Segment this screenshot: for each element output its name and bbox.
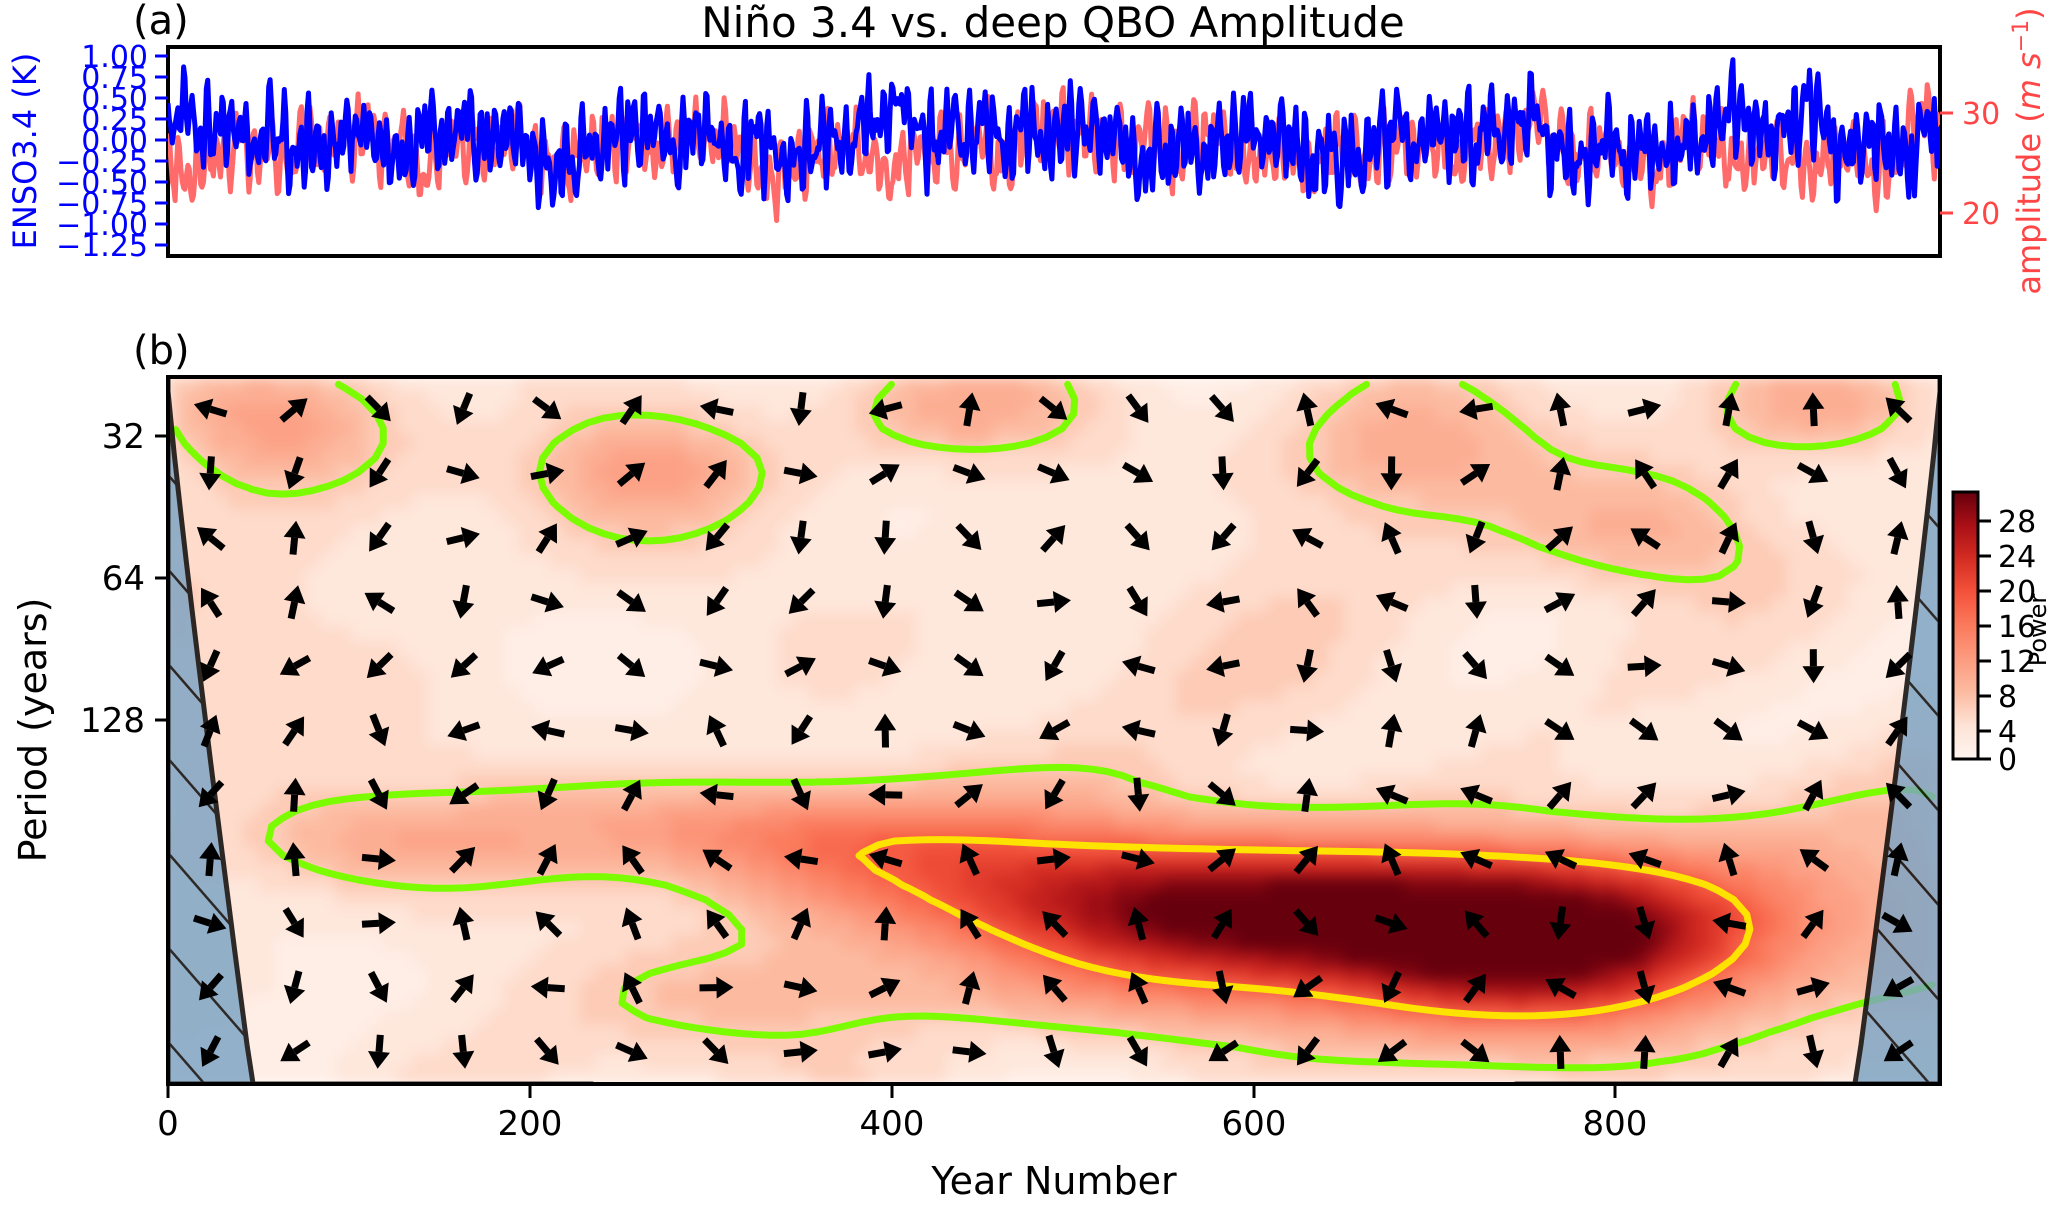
- colorbar-tick-5: 8: [1998, 680, 2017, 715]
- panel-a-y2tick-0: 30: [1962, 97, 2000, 132]
- y2label-prefix: amplitude (: [2010, 110, 2048, 294]
- panel-b-ylabel: Period (years): [11, 598, 55, 863]
- figure-root: Niño 3.4 vs. deep QBO Amplitude (a) 1.00…: [0, 0, 2067, 1219]
- panel-b-xlabel: Year Number: [930, 1159, 1177, 1203]
- panel-b-content: [167, 376, 1940, 1084]
- colorbar-gradient: [1953, 492, 1978, 759]
- panel-b-ytick-2: 128: [80, 701, 145, 741]
- panel-b-xtick-2: 400: [860, 1104, 925, 1144]
- panel-b-yaxis: 32 64 128 Period (years): [11, 417, 168, 862]
- colorbar-tick-1: 24: [1998, 540, 2036, 575]
- panel-a-right-axis: 30 20 amplitude (m s−1): [1940, 7, 2048, 294]
- colorbar-label: Power: [2024, 594, 2052, 667]
- svg-text:amplitude (m s−1): amplitude (m s−1): [2009, 7, 2049, 294]
- panel-a-y2label: amplitude (m s−1): [2009, 7, 2049, 294]
- colorbar-ticks: [1978, 521, 1991, 759]
- y2label-exp: −1: [2009, 20, 2034, 52]
- y2label-suffix: ): [2010, 7, 2048, 19]
- colorbar: 28 24 20 16 12 8 4 0 Power: [1953, 492, 2052, 778]
- panel-b-xtick-1: 200: [498, 1104, 563, 1144]
- panel-b-ytick-0: 32: [102, 417, 145, 457]
- colorbar-tick-0: 28: [1998, 505, 2036, 540]
- panel-b-xtick-0: 0: [157, 1104, 179, 1144]
- panel-a-left-axis: 1.00 0.75 0.50 0.25 0.00 −0.25 −0.50 −0.…: [6, 40, 168, 264]
- panel-a-ytick-9: −1.25: [56, 229, 148, 264]
- panel-b-ytick-1: 64: [102, 559, 145, 599]
- panel-b-xtick-4: 800: [1583, 1104, 1648, 1144]
- panel-b-label: (b): [133, 328, 190, 374]
- figure-canvas: Niño 3.4 vs. deep QBO Amplitude (a) 1.00…: [0, 0, 2067, 1219]
- panel-a-y2tick-1: 20: [1962, 197, 2000, 232]
- panel-b: (b) 32 64 128 Period (years): [11, 328, 1941, 1203]
- colorbar-tick-7: 0: [1998, 743, 2017, 778]
- figure-title: Niño 3.4 vs. deep QBO Amplitude: [701, 0, 1404, 47]
- panel-a-label: (a): [133, 0, 189, 44]
- panel-a-ylabel: ENSO3.4 (K): [6, 53, 44, 250]
- panel-b-xtick-3: 600: [1222, 1104, 1287, 1144]
- y2label-units: m s: [2010, 52, 2048, 110]
- panel-b-xaxis: 0 200 400 600 800 Year Number: [157, 1084, 1647, 1203]
